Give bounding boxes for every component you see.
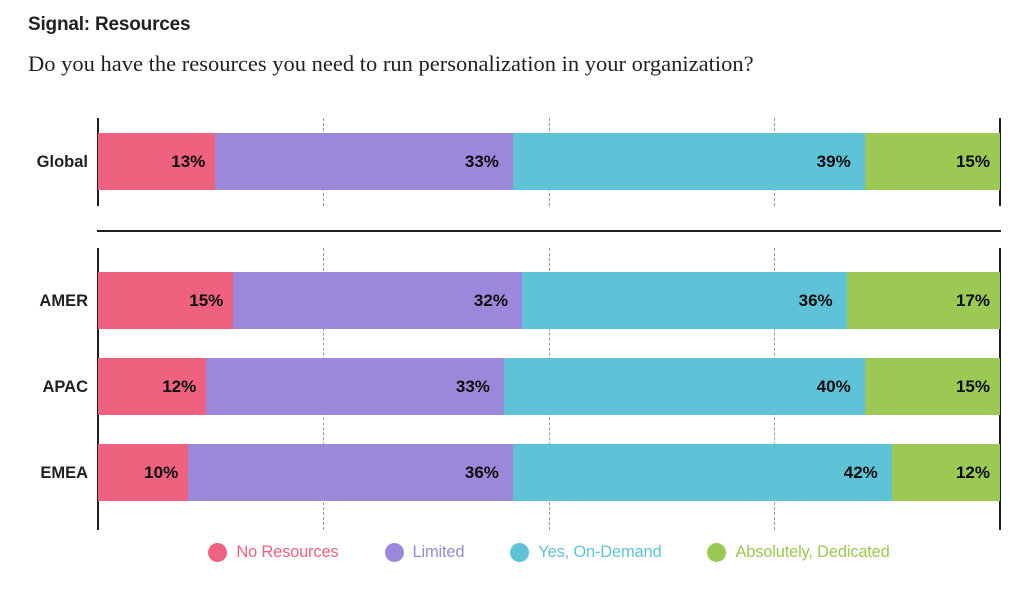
bar-segment-global-limited[interactable]: 33% xyxy=(215,133,513,190)
legend-item-yes-on-demand[interactable]: Yes, On-Demand xyxy=(510,543,661,562)
bar-segment-amer-no-resources[interactable]: 15% xyxy=(98,272,233,329)
bar-value-label: 15% xyxy=(956,378,1000,395)
bar-value-label: 10% xyxy=(144,464,188,481)
bar-segment-emea-yes-on-demand[interactable]: 42% xyxy=(513,444,892,501)
bar-segment-apac-yes-on-demand[interactable]: 40% xyxy=(504,358,865,415)
circle-swatch-icon xyxy=(208,543,227,562)
bar-track-emea: 10% 36% 42% 12% xyxy=(98,444,1000,501)
bar-value-label: 33% xyxy=(456,378,504,395)
bar-value-label: 12% xyxy=(956,464,1000,481)
bar-value-label: 36% xyxy=(799,292,847,309)
bar-value-label: 13% xyxy=(171,153,215,170)
section-divider xyxy=(97,230,1001,232)
bar-segment-emea-absolutely-dedicated[interactable]: 12% xyxy=(892,444,1000,501)
circle-swatch-icon xyxy=(385,543,404,562)
bar-segment-apac-limited[interactable]: 33% xyxy=(206,358,504,415)
bar-row-global: Global 13% 33% 39% 15% xyxy=(0,133,1024,190)
bar-value-label: 33% xyxy=(465,153,513,170)
legend-item-no-resources[interactable]: No Resources xyxy=(208,543,338,562)
legend-item-limited[interactable]: Limited xyxy=(385,543,465,562)
bar-value-label: 39% xyxy=(817,153,865,170)
bar-track-apac: 12% 33% 40% 15% xyxy=(98,358,1000,415)
stacked-bar-chart: Global 13% 33% 39% 15% AMER 15% xyxy=(0,0,1024,595)
bar-segment-emea-limited[interactable]: 36% xyxy=(188,444,513,501)
circle-swatch-icon xyxy=(707,543,726,562)
bar-segment-apac-absolutely-dedicated[interactable]: 15% xyxy=(865,358,1000,415)
bar-segment-global-no-resources[interactable]: 13% xyxy=(98,133,215,190)
chart-legend: No Resources Limited Yes, On-Demand Abso… xyxy=(98,543,1000,562)
bar-segment-emea-no-resources[interactable]: 10% xyxy=(98,444,188,501)
legend-item-absolutely-dedicated[interactable]: Absolutely, Dedicated xyxy=(707,543,889,562)
legend-label: Limited xyxy=(413,544,465,561)
bar-segment-amer-limited[interactable]: 32% xyxy=(233,272,522,329)
bar-track-global: 13% 33% 39% 15% xyxy=(98,133,1000,190)
bar-value-label: 12% xyxy=(162,378,206,395)
bar-segment-amer-absolutely-dedicated[interactable]: 17% xyxy=(847,272,1000,329)
bar-value-label: 36% xyxy=(465,464,513,481)
bar-value-label: 32% xyxy=(474,292,522,309)
bar-row-apac: APAC 12% 33% 40% 15% xyxy=(0,358,1024,415)
bar-segment-amer-yes-on-demand[interactable]: 36% xyxy=(522,272,847,329)
row-label-global: Global xyxy=(0,154,88,171)
legend-label: Absolutely, Dedicated xyxy=(735,544,889,561)
row-label-emea: EMEA xyxy=(0,465,88,482)
circle-swatch-icon xyxy=(510,543,529,562)
bar-segment-global-absolutely-dedicated[interactable]: 15% xyxy=(865,133,1000,190)
legend-label: Yes, On-Demand xyxy=(538,544,661,561)
bar-value-label: 17% xyxy=(956,292,1000,309)
bar-value-label: 40% xyxy=(817,378,865,395)
bar-value-label: 15% xyxy=(189,292,233,309)
row-label-apac: APAC xyxy=(0,379,88,396)
legend-label: No Resources xyxy=(236,544,338,561)
bar-value-label: 42% xyxy=(844,464,892,481)
bar-row-amer: AMER 15% 32% 36% 17% xyxy=(0,272,1024,329)
bar-segment-apac-no-resources[interactable]: 12% xyxy=(98,358,206,415)
bar-row-emea: EMEA 10% 36% 42% 12% xyxy=(0,444,1024,501)
bar-value-label: 15% xyxy=(956,153,1000,170)
row-label-amer: AMER xyxy=(0,293,88,310)
bar-track-amer: 15% 32% 36% 17% xyxy=(98,272,1000,329)
bar-segment-global-yes-on-demand[interactable]: 39% xyxy=(513,133,865,190)
